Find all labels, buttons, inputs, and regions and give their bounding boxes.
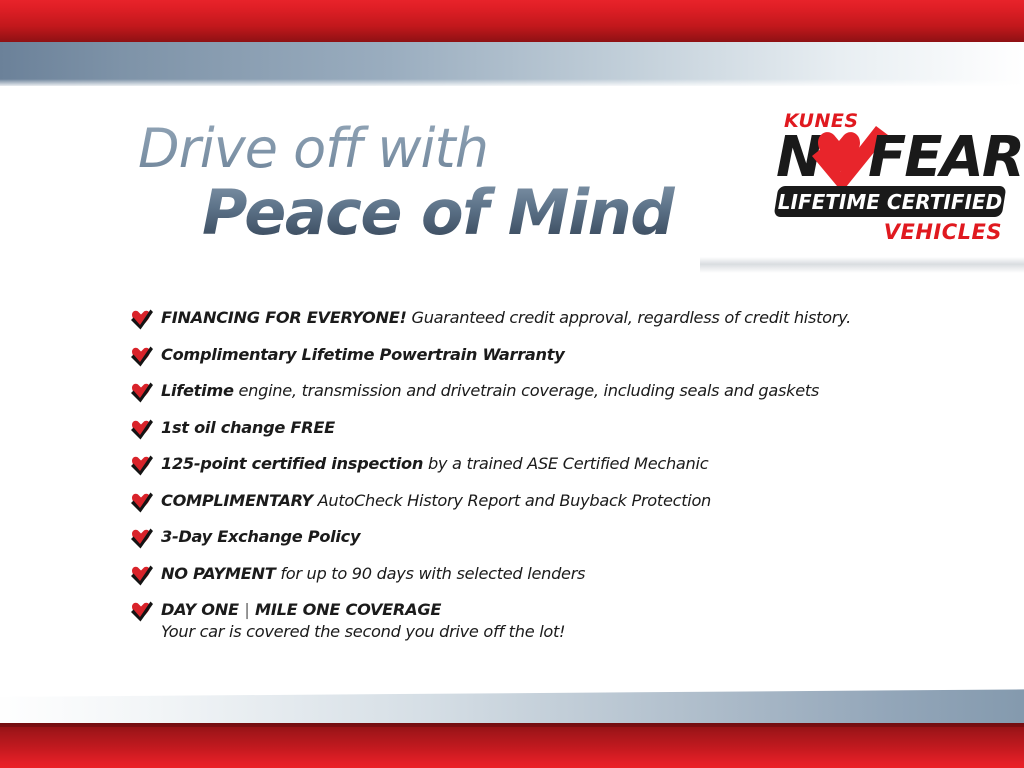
list-item-block: DAY ONE | MILE ONE COVERAGE Your car is … <box>161 600 565 642</box>
list-item-rest: for up to 90 days with selected lenders <box>275 564 585 583</box>
headline-line-1: Drive off with <box>138 122 758 176</box>
list-item-text: Lifetime engine, transmission and drivet… <box>161 381 819 401</box>
list-item-text: FINANCING FOR EVERYONE! Guaranteed credi… <box>161 308 851 328</box>
logo-vehicles-label: VEHICLES <box>884 220 1002 244</box>
headline-divider-shadow <box>700 257 1024 273</box>
list-item-text: Complimentary Lifetime Powertrain Warran… <box>161 345 564 365</box>
list-item: 3-Day Exchange Policy <box>130 527 960 549</box>
list-item-text: COMPLIMENTARY AutoCheck History Report a… <box>161 491 711 511</box>
list-item: NO PAYMENT for up to 90 days with select… <box>130 564 960 586</box>
promo-banner: Drive off with Peace of Mind KUNES N FEA… <box>0 0 1024 768</box>
list-item-bold: 125-point certified inspection <box>161 454 423 473</box>
list-item: FINANCING FOR EVERYONE! Guaranteed credi… <box>130 308 960 330</box>
list-item-bold: 1st oil change FREE <box>161 418 335 437</box>
list-item-bold: 3-Day Exchange Policy <box>161 527 360 546</box>
list-item-bold-b: MILE ONE COVERAGE <box>255 600 441 619</box>
list-item-subtext: Your car is covered the second you drive… <box>161 621 565 642</box>
heart-check-icon <box>130 528 153 549</box>
list-item-bold: Lifetime <box>161 381 234 400</box>
list-item-rest: AutoCheck History Report and Buyback Pro… <box>313 491 711 510</box>
list-item-bold: FINANCING FOR EVERYONE! <box>161 308 407 327</box>
list-item: Complimentary Lifetime Powertrain Warran… <box>130 345 960 367</box>
list-item-bold: COMPLIMENTARY <box>161 491 313 510</box>
list-item-rest: by a trained ASE Certified Mechanic <box>423 454 708 473</box>
heart-check-icon <box>130 565 153 586</box>
list-item-text: 1st oil change FREE <box>161 418 335 438</box>
list-item: 125-point certified inspection by a trai… <box>130 454 960 476</box>
list-item-bold-a: DAY ONE <box>161 600 239 619</box>
heart-check-icon <box>130 309 153 330</box>
heart-check-icon <box>130 601 153 622</box>
heart-check-icon <box>130 382 153 403</box>
list-item-text: NO PAYMENT for up to 90 days with select… <box>161 564 585 584</box>
list-item: COMPLIMENTARY AutoCheck History Report a… <box>130 491 960 513</box>
logo-bar-label: LIFETIME CERTIFIED <box>776 186 1004 217</box>
logo-letters-fear: FEAR <box>868 130 1023 186</box>
headline: Drive off with Peace of Mind <box>138 122 758 245</box>
list-item: 1st oil change FREE <box>130 418 960 440</box>
heart-check-icon <box>130 419 153 440</box>
logo-no-fear-wordmark: N FEAR <box>772 128 1008 190</box>
list-item-rest: engine, transmission and drivetrain cove… <box>234 381 819 400</box>
top-red-band <box>0 0 1024 42</box>
heart-check-icon <box>130 492 153 513</box>
kunes-no-fear-logo: KUNES N FEAR LIFETIME CERTIFIED VEHICLES <box>772 110 1008 245</box>
benefits-list: FINANCING FOR EVERYONE! Guaranteed credi… <box>130 308 960 657</box>
bottom-red-band <box>0 723 1024 768</box>
list-item-text: DAY ONE | MILE ONE COVERAGE <box>161 600 441 619</box>
list-item-bold: Complimentary Lifetime Powertrain Warran… <box>161 345 564 364</box>
heart-check-icon <box>130 346 153 367</box>
headline-line-2: Peace of Mind <box>202 180 758 245</box>
list-item-text: 3-Day Exchange Policy <box>161 527 360 547</box>
list-item-bold: NO PAYMENT <box>161 564 275 583</box>
list-item: Lifetime engine, transmission and drivet… <box>130 381 960 403</box>
top-gray-band <box>0 42 1024 86</box>
list-item-rest: Guaranteed credit approval, regardless o… <box>407 308 851 327</box>
list-item: DAY ONE | MILE ONE COVERAGE Your car is … <box>130 600 960 642</box>
heart-check-icon <box>130 455 153 476</box>
list-item-text: 125-point certified inspection by a trai… <box>161 454 708 474</box>
